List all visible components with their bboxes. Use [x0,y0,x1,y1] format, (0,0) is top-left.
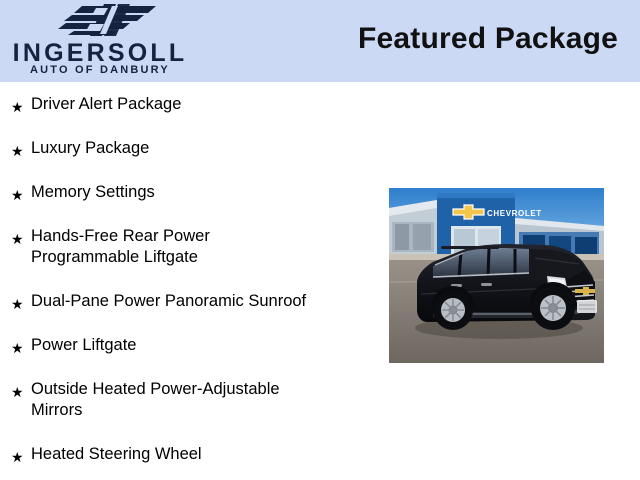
feature-list-item: ★Heated Steering Wheel [0,432,372,476]
star-bullet-icon: ★ [11,367,31,403]
star-bullet-icon: ★ [11,323,31,359]
page-header: INGERSOLL AUTO OF DANBURY Featured Packa… [0,0,640,82]
feature-list-item: ★Luxury Package [0,126,372,170]
feature-label: Power Liftgate [31,323,372,356]
feature-label: Heated Steering Wheel [31,432,372,465]
page-title: Featured Package [358,22,618,56]
star-bullet-icon: ★ [11,170,31,206]
dealer-wordmark: INGERSOLL [0,41,200,66]
feature-label: Driver Alert Package [31,82,372,115]
feature-label: Hands-Free Rear Power Programmable Liftg… [31,214,372,268]
feature-list-item: ★Hands-Free Rear Power Programmable Lift… [0,214,372,279]
feature-list-item: ★Outside Heated Power-Adjustable Mirrors [0,367,372,432]
star-bullet-icon: ★ [11,82,31,118]
vehicle-photo[interactable]: CHEVROLET [389,188,604,363]
featured-package-list: ★Driver Alert Package★Luxury Package★Mem… [0,82,372,476]
star-bullet-icon: ★ [11,279,31,315]
feature-label: Luxury Package [31,126,372,159]
feature-label: Memory Settings [31,170,372,203]
feature-list-item: ★Power Liftgate [0,323,372,367]
dealership-sign-text: CHEVROLET [487,209,542,218]
feature-list-item: ★Dual-Pane Power Panoramic Sunroof [0,279,372,323]
dealer-logo[interactable]: INGERSOLL AUTO OF DANBURY [0,0,210,82]
feature-label: Outside Heated Power-Adjustable Mirrors [31,367,372,421]
feature-list-item: ★Driver Alert Package [0,82,372,126]
star-bullet-icon: ★ [11,432,31,468]
ingersoll-winged-emblem-icon [52,4,164,36]
dealer-subwordmark: AUTO OF DANBURY [0,65,200,76]
star-bullet-icon: ★ [11,214,31,250]
feature-list-item: ★Memory Settings [0,170,372,214]
star-bullet-icon: ★ [11,126,31,162]
feature-label: Dual-Pane Power Panoramic Sunroof [31,279,372,312]
